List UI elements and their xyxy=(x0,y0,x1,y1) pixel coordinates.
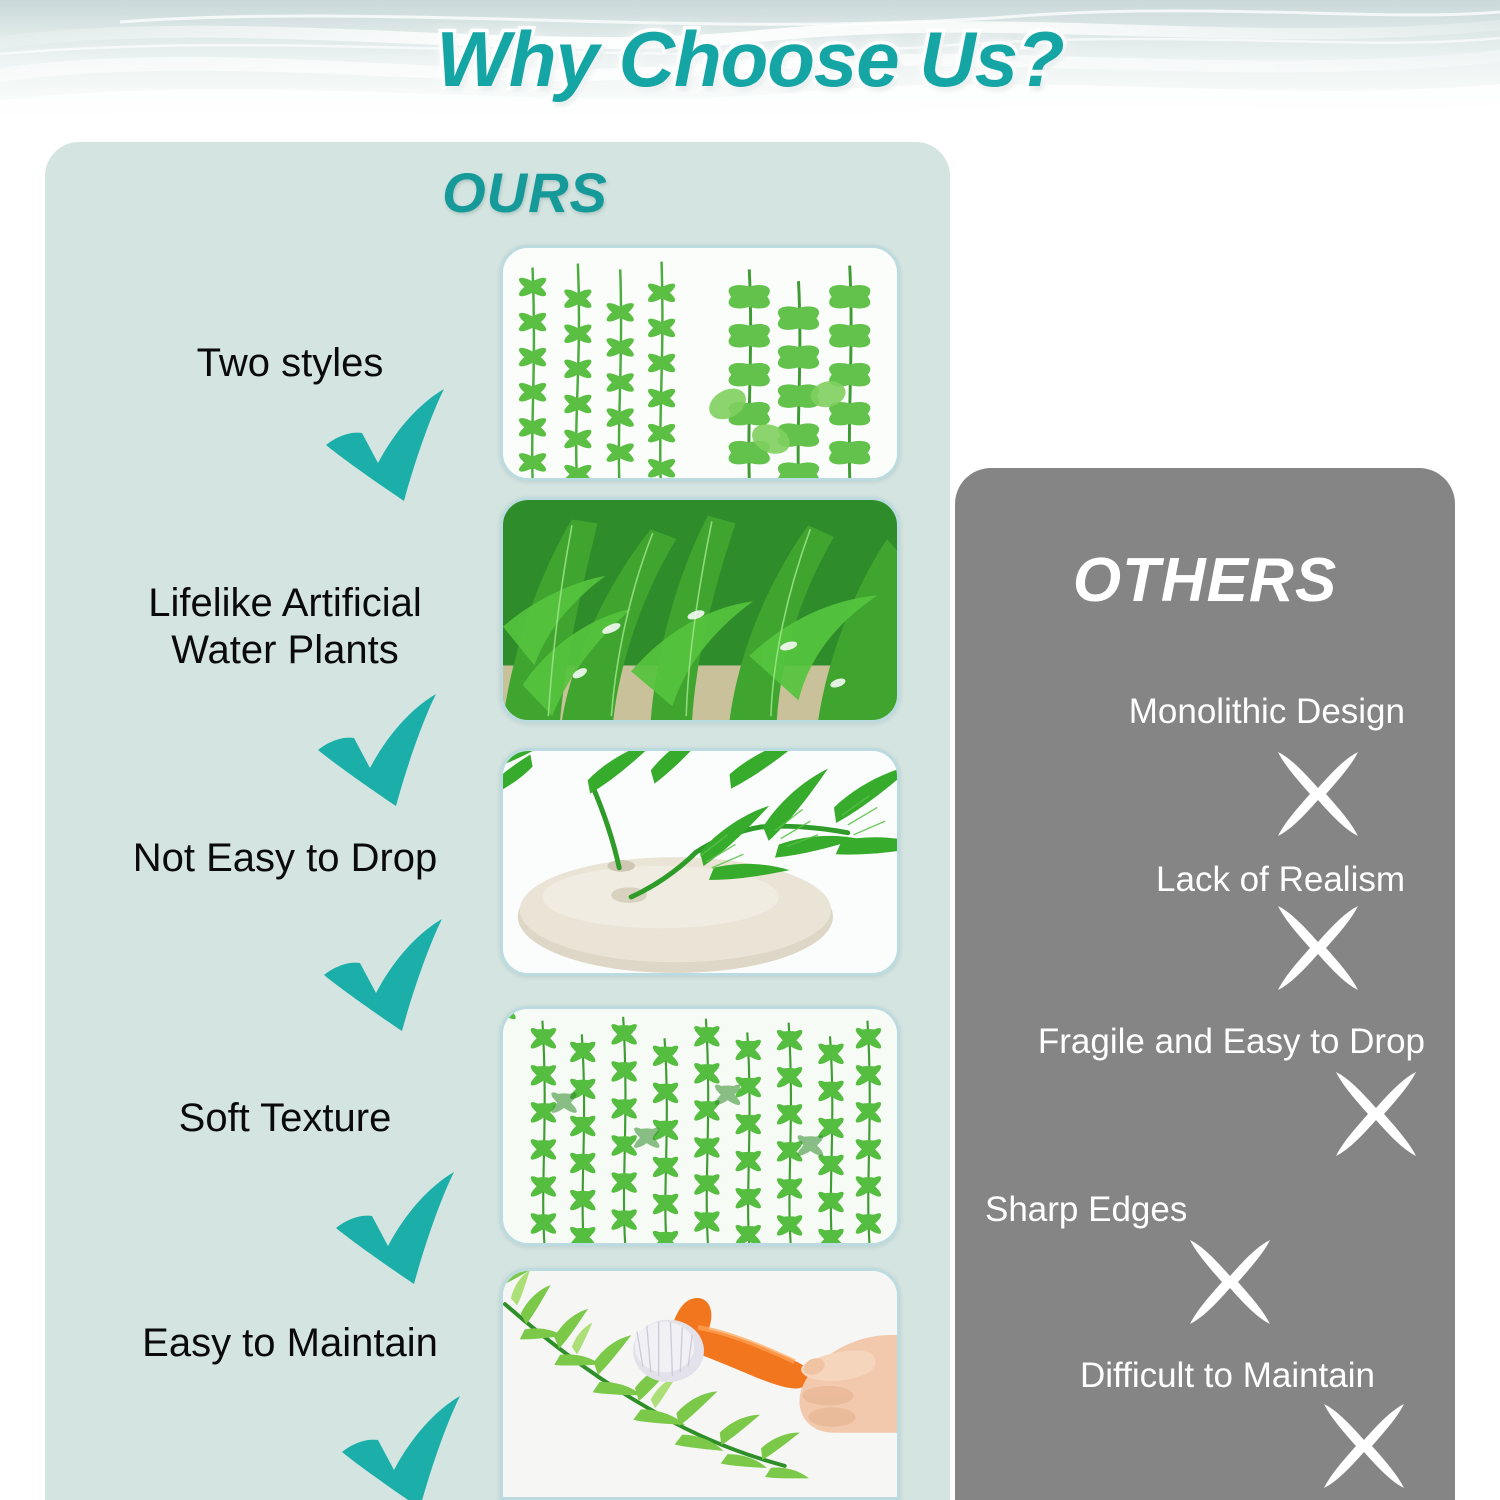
ours-photo-5 xyxy=(500,1268,900,1500)
others-drawback-label-5: Difficult to Maintain xyxy=(975,1356,1375,1396)
check-mark-icon xyxy=(312,690,442,812)
ours-photo-3 xyxy=(500,748,900,976)
ours-feature-label-1: Two styles xyxy=(120,340,460,387)
ours-heading: OURS xyxy=(380,160,670,225)
ours-photo-4 xyxy=(500,1006,900,1246)
cross-mark-icon xyxy=(1272,902,1364,994)
cross-mark-icon xyxy=(1318,1400,1410,1492)
others-panel xyxy=(955,468,1455,1500)
ours-feature-label-4: Soft Texture xyxy=(105,1095,465,1142)
weighted-base-photo xyxy=(503,751,897,973)
infographic-canvas: Why Choose Us? OURS Two styles xyxy=(0,0,1500,1500)
others-heading: OTHERS xyxy=(955,545,1455,616)
cross-mark-icon xyxy=(1184,1236,1276,1328)
header-banner: Why Choose Us? xyxy=(0,0,1500,140)
ours-photo-2 xyxy=(500,497,900,723)
others-drawback-label-3: Fragile and Easy to Drop xyxy=(975,1022,1425,1062)
others-drawback-label-2: Lack of Realism xyxy=(985,860,1405,900)
ours-feature-label-2: Lifelike Artificial Water Plants xyxy=(95,580,475,674)
others-drawback-label-4: Sharp Edges xyxy=(985,1190,1285,1230)
soft-texture-stems-photo xyxy=(503,1009,897,1243)
two-styles-plants-photo xyxy=(503,248,897,478)
others-drawback-label-1: Monolithic Design xyxy=(985,692,1405,732)
ours-feature-label-5: Easy to Maintain xyxy=(95,1320,485,1367)
cleaning-brush-photo xyxy=(503,1271,897,1497)
page-title: Why Choose Us? xyxy=(0,14,1500,105)
cross-mark-icon xyxy=(1272,748,1364,840)
check-mark-icon xyxy=(320,385,450,507)
ours-feature-label-3: Not Easy to Drop xyxy=(95,835,475,882)
check-mark-icon xyxy=(318,915,448,1037)
ours-photo-1 xyxy=(500,245,900,481)
cross-mark-icon xyxy=(1330,1068,1422,1160)
check-mark-icon xyxy=(330,1168,460,1290)
check-mark-icon xyxy=(336,1392,466,1500)
lifelike-leaves-closeup-photo xyxy=(503,500,897,720)
